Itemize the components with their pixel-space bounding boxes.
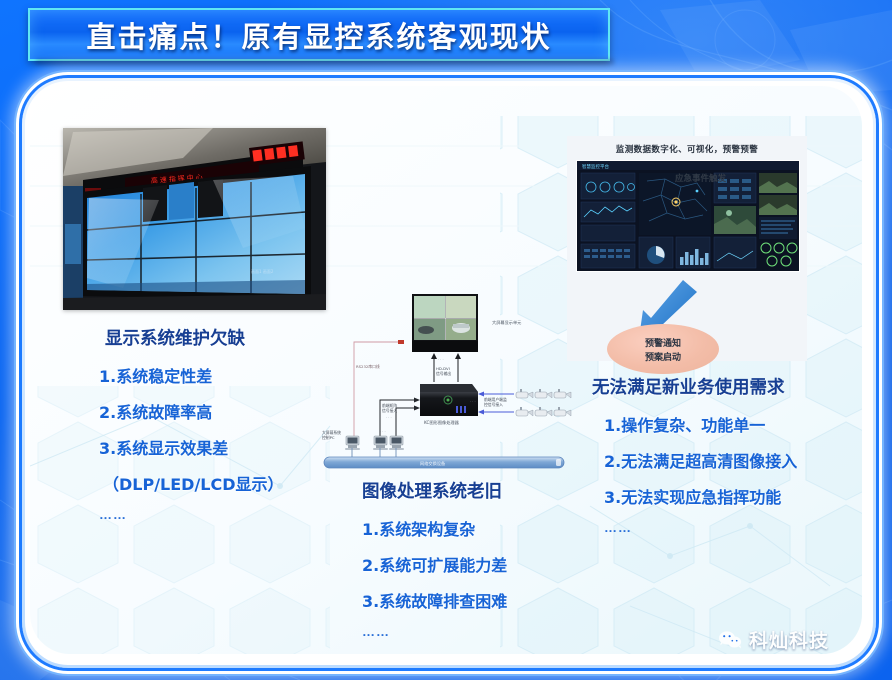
label-processor: KC图形图像处理器 <box>424 419 460 426</box>
watermark-text: 科灿科技 <box>749 626 829 653</box>
block-middle-heading: 图像处理系统老旧 <box>362 478 507 503</box>
block-middle-item-1: 1.系统架构复杂 <box>362 516 507 540</box>
svg-text:· · ·: · · · <box>438 358 444 362</box>
arrow-label: 应急事件触发 <box>675 172 726 184</box>
block-right-ellipsis: …… <box>604 520 797 535</box>
workstation-icons <box>345 436 404 450</box>
block-left-ellipsis: …… <box>99 507 284 522</box>
svg-text:控制PC: 控制PC <box>322 435 335 440</box>
svg-text:· · ·: · · · <box>386 416 392 420</box>
block-middle-item-2: 2.系统可扩展能力差 <box>362 552 507 576</box>
control-room-photo: 高速指挥中心 画面1 画面2 <box>63 128 326 310</box>
svg-text:信号输出: 信号输出 <box>436 371 451 376</box>
alert-oval: 预警通知 预案启动 <box>607 324 719 374</box>
text-block-left: 显示系统维护欠缺 1.系统稳定性差 2.系统故障率高 3.系统显示效果差 （DL… <box>99 325 284 535</box>
svg-text:· · ·: · · · <box>380 430 386 434</box>
block-right-item-1: 1.操作复杂、功能单一 <box>604 412 797 436</box>
block-right-item-3: 3.无法实现应急指挥功能 <box>604 484 797 508</box>
alert-line-2: 预案启动 <box>645 350 681 363</box>
dashboard-illustration-block: 监测数据数字化、可视化，预警预警 智慧监控平台 <box>567 136 807 361</box>
block-left-heading: 显示系统维护欠缺 <box>105 325 284 350</box>
text-block-right: 无法满足新业务使用需求 1.操作复杂、功能单一 2.无法满足超高清图像接入 3.… <box>592 374 797 548</box>
block-left-item-1: 1.系统稳定性差 <box>99 363 284 387</box>
label-network: 网络交换设备 <box>420 460 446 467</box>
svg-text:智慧监控平台: 智慧监控平台 <box>582 163 609 170</box>
block-left-item-3: 3.系统显示效果差 <box>99 435 284 459</box>
block-middle-item-3: 3.系统故障排查困难 <box>362 588 507 612</box>
svg-text:画面1 画面2: 画面1 画面2 <box>251 269 274 274</box>
svg-text:信号接入: 信号接入 <box>382 408 397 413</box>
watermark: 科灿科技 <box>718 626 829 653</box>
slide-title-bar: 直击痛点！原有显控系统客观现状 <box>28 8 610 61</box>
slide-root: 直击痛点！原有显控系统客观现状 <box>0 0 892 680</box>
camera-icons <box>516 389 571 416</box>
dashboard-title: 监测数据数字化、可视化，预警预警 <box>567 143 807 155</box>
alert-line-1: 预警通知 <box>645 336 681 349</box>
title-bar-shadow <box>36 59 614 65</box>
block-right-heading: 无法满足新业务使用需求 <box>592 374 797 399</box>
block-left-item-4: （DLP/LED/LCD显示） <box>103 471 284 495</box>
svg-text:控信号接入: 控信号接入 <box>484 402 503 407</box>
label-rs232: RS232串口线 <box>356 364 380 369</box>
label-wall: 大屏幕显示单元 <box>492 319 521 326</box>
system-topology-diagram: 大屏幕显示单元 HD-DVI 信号输出 · · · KC图形图像处理器 <box>320 288 572 472</box>
block-right-item-2: 2.无法满足超高清图像接入 <box>604 448 797 472</box>
block-left-item-2: 2.系统故障率高 <box>99 399 284 423</box>
svg-text:· · ·: · · · <box>470 400 476 404</box>
page-title: 直击痛点！原有显控系统客观现状 <box>86 14 551 56</box>
block-middle-ellipsis: …… <box>362 624 507 639</box>
text-block-middle: 图像处理系统老旧 1.系统架构复杂 2.系统可扩展能力差 3.系统故障排查困难 … <box>362 478 507 652</box>
wechat-icon <box>718 630 742 650</box>
